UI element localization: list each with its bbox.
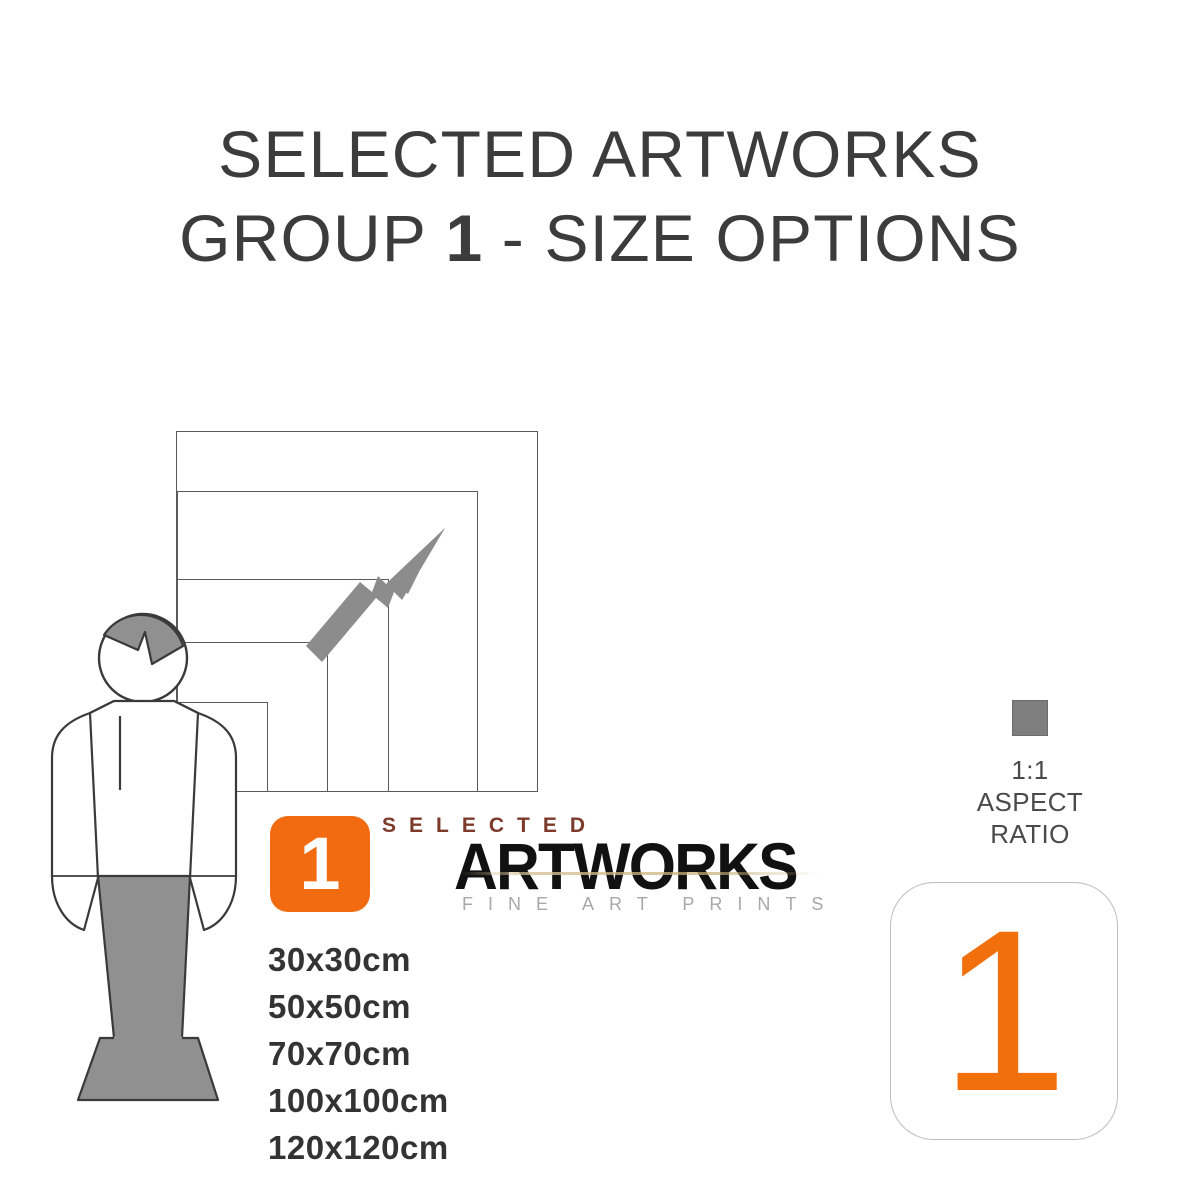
aspect-ratio-block: 1:1 ASPECT RATIO [930,700,1130,850]
logo-group-badge: 1 [270,816,370,912]
title-group-suffix: - SIZE OPTIONS [482,201,1021,275]
aspect-ratio-swatch-icon [1012,700,1048,736]
group-number-card: 1 [890,882,1118,1140]
poster-canvas: SELECTED ARTWORKS GROUP 1 - SIZE OPTIONS [0,0,1200,1200]
size-option-50[interactable]: 50x50cm [268,983,449,1030]
aspect-ratio-word-2: RATIO [930,818,1130,850]
brand-logo: 1 SELECTED ARTWORKS FINE ART PRINTS [270,810,830,930]
title-line-1: SELECTED ARTWORKS [0,112,1200,196]
page-title: SELECTED ARTWORKS GROUP 1 - SIZE OPTIONS [0,112,1200,280]
title-group-prefix: GROUP [179,201,445,275]
aspect-ratio-label: 1:1 ASPECT RATIO [930,754,1130,850]
logo-artworks-word: ARTWORKS [454,828,797,904]
aspect-ratio-value: 1:1 [930,754,1130,786]
aspect-ratio-word-1: ASPECT [930,786,1130,818]
size-option-70[interactable]: 70x70cm [268,1030,449,1077]
size-options-list: 30x30cm 50x50cm 70x70cm 100x100cm 120x12… [268,936,449,1171]
growth-arrow-icon [290,520,470,670]
group-number-digit: 1 [891,896,1117,1126]
title-line-2: GROUP 1 - SIZE OPTIONS [0,196,1200,280]
size-option-100[interactable]: 100x100cm [268,1077,449,1124]
size-option-120[interactable]: 120x120cm [268,1124,449,1171]
title-group-number: 1 [445,201,482,275]
size-option-30[interactable]: 30x30cm [268,936,449,983]
logo-grunge-streak [460,872,820,875]
scale-person-figure [38,608,258,1153]
logo-tagline: FINE ART PRINTS [462,894,838,915]
